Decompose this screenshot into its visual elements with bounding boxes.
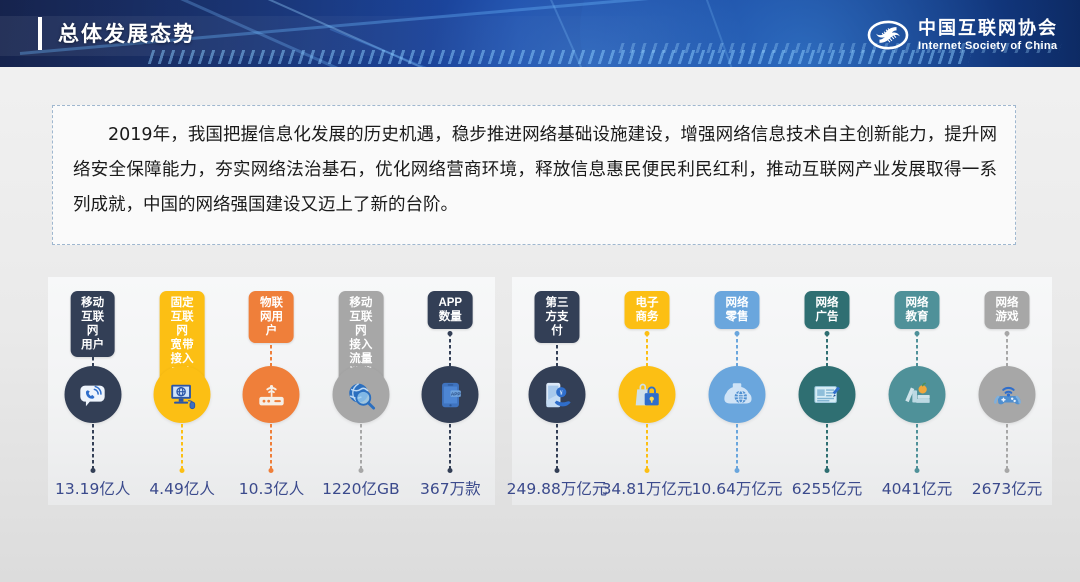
kpi-value: 6255亿元 [792,477,862,499]
kpi-icon-circle[interactable] [619,366,676,423]
gamepad-wifi-icon [992,380,1022,410]
kpi-value: 10.64万亿元 [692,477,783,499]
connector-line [449,333,451,366]
shopping-bag-lock-icon [632,380,662,410]
connector-line [360,424,362,471]
connector-dot [735,468,740,473]
kpi-icon-circle[interactable] [64,366,121,423]
connector-dot [180,331,185,336]
kpi-value: 367万款 [420,477,481,499]
kpi-icon-circle[interactable] [889,366,946,423]
industry-panel: 第三方支付¥249.88万亿元电子商务34.81万亿元网络零售10.64万亿元网… [512,277,1052,505]
organization-logo: 中国互联网协会 Internet Society of China [867,14,1058,56]
connector-line [92,333,94,366]
kpi-item[interactable]: 网络游戏2673亿元 [962,277,1052,505]
kpi-value: 4.49亿人 [149,477,215,499]
kpi-item[interactable]: 网络教育4041亿元 [872,277,962,505]
kpi-icon-circle[interactable]: ¥ [529,366,586,423]
logo-title-en: Internet Society of China [918,41,1058,52]
slide-header: 总体发展态势 中国互联网协会 Internet Society of China [0,0,1080,67]
books-apple-icon [902,380,932,410]
connector-line [916,424,918,471]
connector-dot [555,468,560,473]
kpi-item[interactable]: APP数量APP367万款 [406,277,495,505]
kpi-value: 2673亿元 [972,477,1042,499]
kpi-value: 1220亿GB [322,477,400,499]
connector-line [270,333,272,366]
connector-dot [915,468,920,473]
globe-search-icon [346,380,376,410]
connector-line [826,424,828,471]
connector-dot [180,468,185,473]
title-accent-bar [38,17,42,50]
kpi-label-pill: 网络广告 [805,291,850,329]
connector-line [646,333,648,366]
connector-line [92,424,94,471]
kpi-icon-circle[interactable] [332,366,389,423]
connector-dot [358,331,363,336]
kpi-icon-circle[interactable] [154,366,211,423]
kpi-icon-circle[interactable] [709,366,766,423]
kpi-label-pill: 网络游戏 [985,291,1030,329]
summary-paragraph: 2019年，我国把握信息化发展的历史机遇，稳步推进网络基础设施建设，增强网络信息… [73,118,997,223]
kpi-item[interactable]: 电子商务34.81万亿元 [602,277,692,505]
kpi-value: 34.81万亿元 [602,477,693,499]
kpi-item[interactable]: 固定互联网 宽带接入用户4.49亿人 [137,277,226,505]
kpi-label-pill: 网络零售 [715,291,760,329]
iot-router-icon [256,380,286,410]
connector-dot [825,331,830,336]
kpi-label-pill: APP数量 [428,291,473,329]
connector-line [270,424,272,471]
connector-line [736,424,738,471]
connector-line [1006,333,1008,366]
connector-dot [90,331,95,336]
mobile-payment-icon: ¥ [542,380,572,410]
broadband-pc-icon [167,380,197,410]
connector-dot [358,468,363,473]
kpi-value: 10.3亿人 [239,477,305,499]
connector-dot [915,331,920,336]
connector-line [556,333,558,366]
connector-line [449,424,451,471]
ad-banner-icon [812,380,842,410]
kpi-label-pill: 网络教育 [895,291,940,329]
kpi-item[interactable]: 物联网用户10.3亿人 [227,277,316,505]
kpi-icon-circle[interactable] [979,366,1036,423]
kpi-item[interactable]: 第三方支付¥249.88万亿元 [512,277,602,505]
isc-logo-icon [867,14,909,56]
connector-line [1006,424,1008,471]
summary-textbox: 2019年，我国把握信息化发展的历史机遇，稳步推进网络基础设施建设，增强网络信息… [52,105,1016,245]
connector-line [360,333,362,366]
connector-line [646,424,648,471]
kpi-item[interactable]: 移动互联网 用户13.19亿人 [48,277,137,505]
slide-root: 总体发展态势 中国互联网协会 Internet Society of China… [0,0,1080,582]
connector-dot [825,468,830,473]
page-title: 总体发展态势 [58,18,196,48]
connector-line [181,424,183,471]
connector-dot [1005,331,1010,336]
app-phone-icon: APP [435,380,465,410]
kpi-icon-circle[interactable]: APP [422,366,479,423]
kpi-item[interactable]: 网络广告6255亿元 [782,277,872,505]
connector-dot [448,468,453,473]
logo-title-cn: 中国互联网协会 [918,19,1058,37]
connector-dot [448,331,453,336]
svg-text:APP: APP [451,391,461,396]
connector-dot [645,331,650,336]
kpi-label-pill: 电子商务 [625,291,670,329]
kpi-item[interactable]: 网络零售10.64万亿元 [692,277,782,505]
connector-line [736,333,738,366]
kpi-value: 4041亿元 [882,477,952,499]
kpi-icon-circle[interactable] [243,366,300,423]
connector-dot [90,468,95,473]
connector-dot [1005,468,1010,473]
mobile-internet-icon [78,380,108,410]
kpi-item[interactable]: 移动互联网 接入流量消费1220亿GB [316,277,405,505]
svg-text:¥: ¥ [559,390,562,396]
connector-dot [269,468,274,473]
online-retail-icon [722,380,752,410]
kpi-icon-circle[interactable] [799,366,856,423]
connector-dot [555,331,560,336]
connector-dot [735,331,740,336]
connector-dot [645,468,650,473]
kpi-value: 249.88万亿元 [507,477,608,499]
connector-line [826,333,828,366]
connector-dot [269,331,274,336]
connector-line [916,333,918,366]
connector-line [556,424,558,471]
infrastructure-panel: 移动互联网 用户13.19亿人固定互联网 宽带接入用户4.49亿人物联网用户10… [48,277,495,505]
kpi-value: 13.19亿人 [55,477,130,499]
connector-line [181,333,183,366]
